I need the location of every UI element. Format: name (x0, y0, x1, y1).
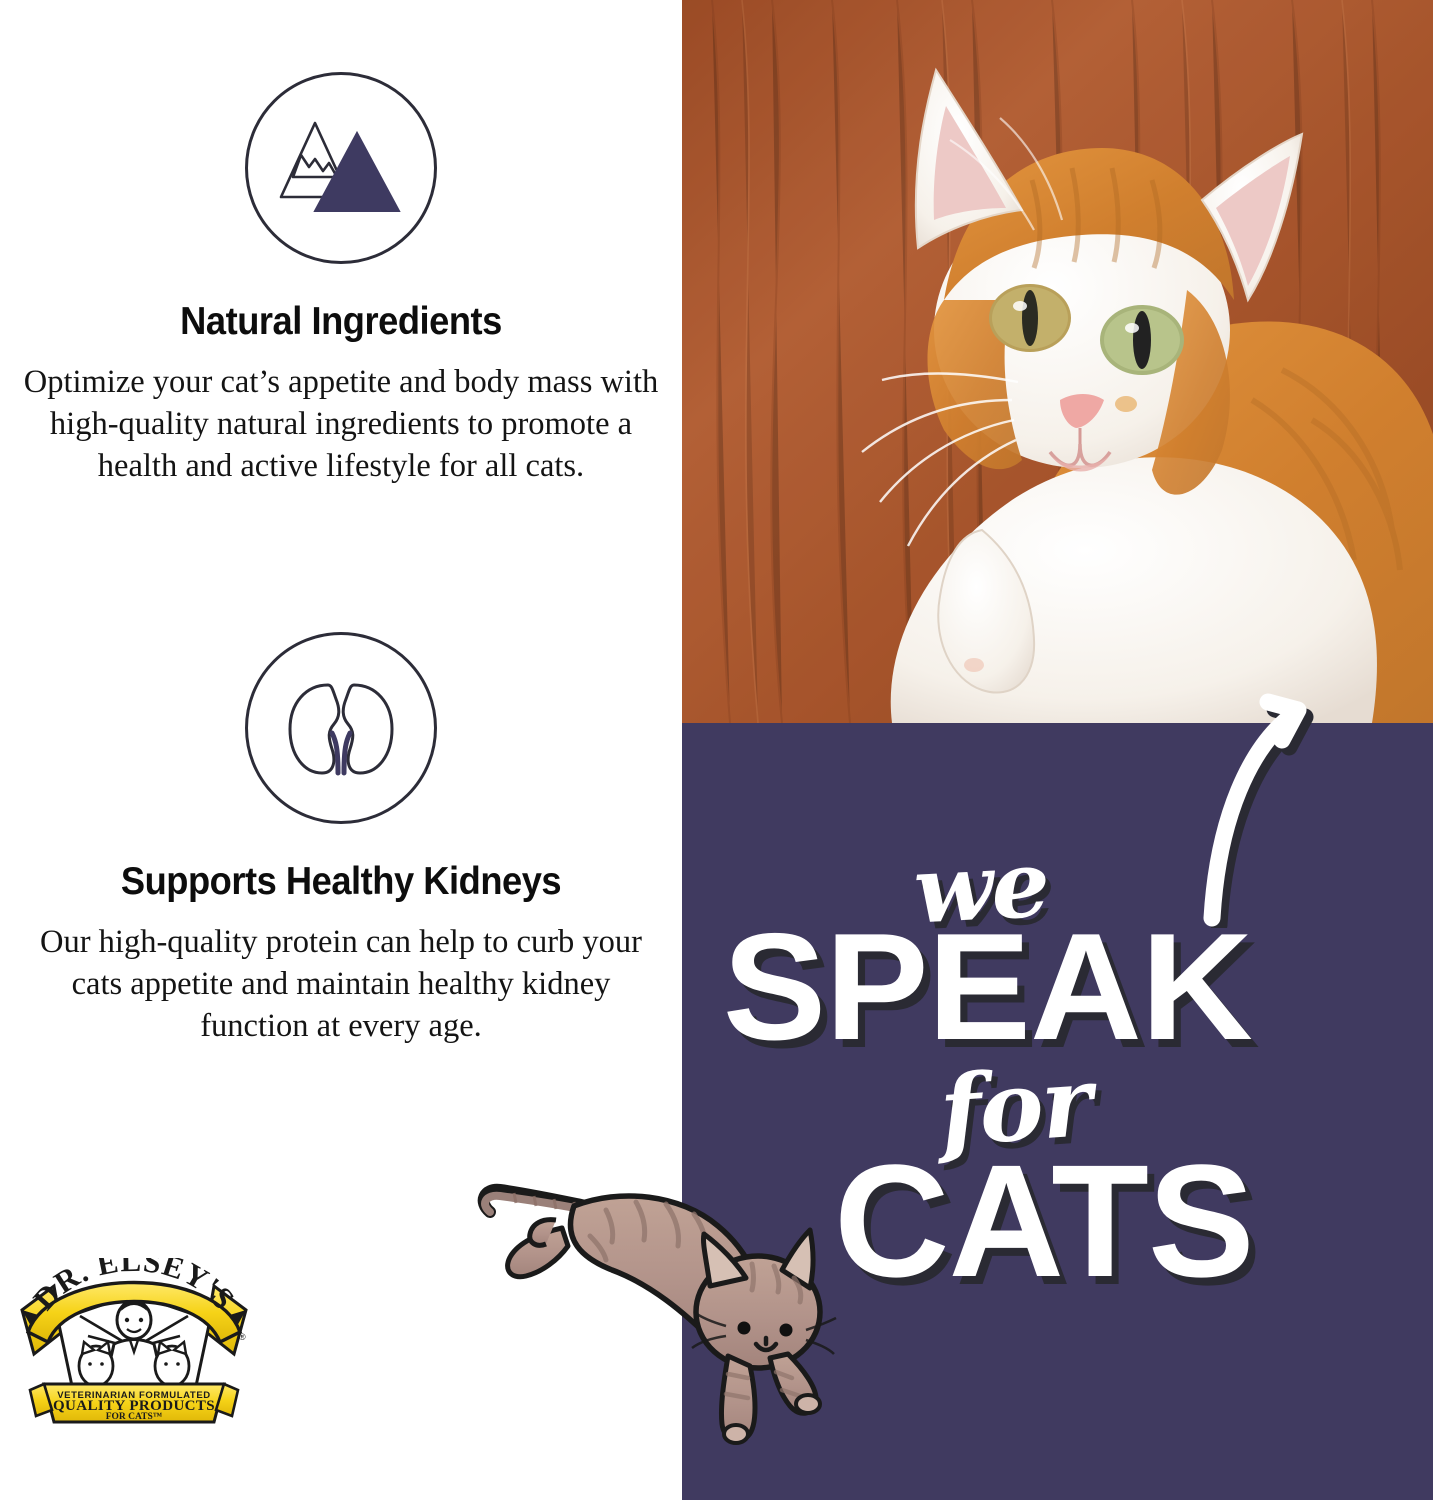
feature-title: Supports Healthy Kidneys (24, 860, 658, 904)
cat-photo (682, 0, 1433, 723)
dr-elseys-logo: DR. ELSEY'S ® VETERINARIAN FORMULATED QU… (18, 1258, 250, 1430)
feature-supports-healthy-kidneys: Supports Healthy Kidneys Our high-qualit… (0, 632, 682, 1047)
slogan-word-for: for (937, 1054, 1093, 1160)
feature-natural-ingredients: Natural Ingredients Optimize your cat’s … (0, 72, 682, 487)
slogan-word-cats: CATS (834, 1141, 1254, 1301)
mountain-icon (245, 72, 437, 264)
feature-title: Natural Ingredients (24, 300, 658, 344)
product-feature-infographic: Natural Ingredients Optimize your cat’s … (0, 0, 1433, 1500)
leaping-cat-illustration (470, 1166, 870, 1466)
feature-body: Optimize your cat’s appetite and body ma… (20, 362, 662, 487)
feature-body: Our high-quality protein can help to cur… (20, 922, 662, 1047)
kidney-icon (245, 632, 437, 824)
slogan-word-speak: SPEAK (723, 911, 1252, 1063)
svg-text:®: ® (239, 1332, 246, 1342)
logo-banner-line-3: FOR CATS™ (106, 1412, 163, 1422)
